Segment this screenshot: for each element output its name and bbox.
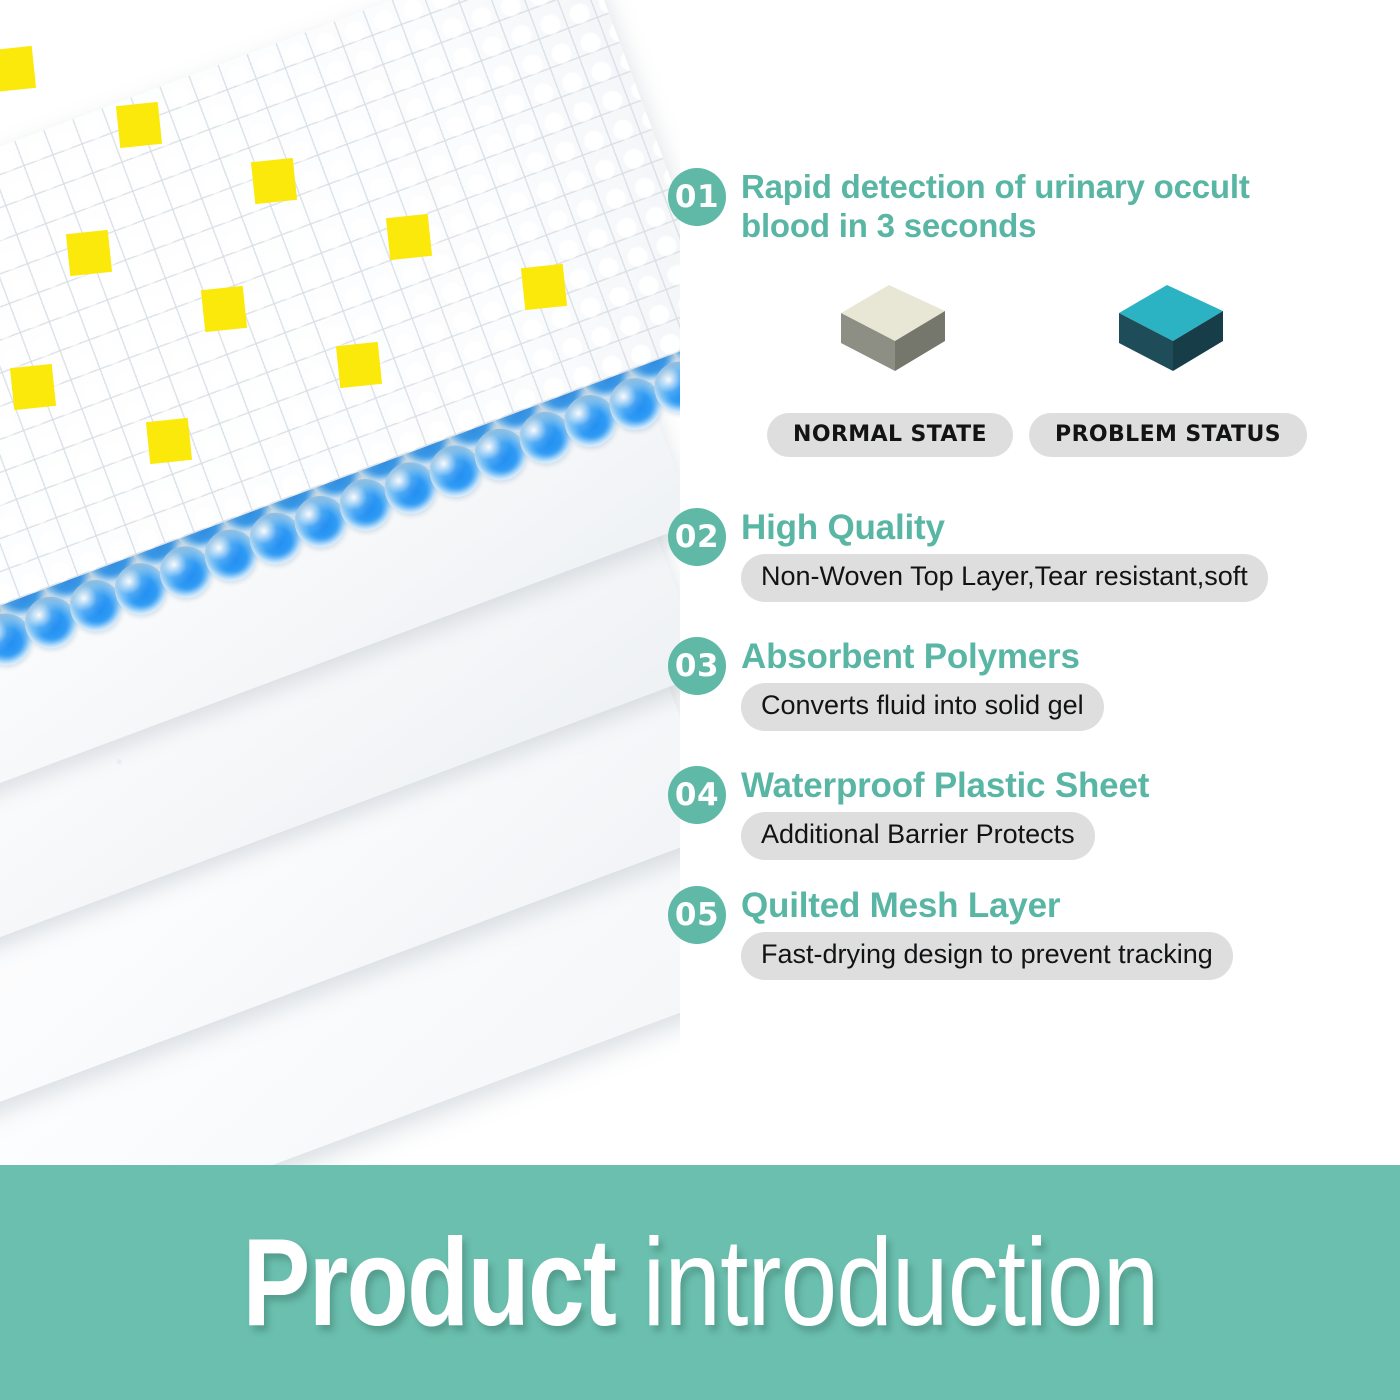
feature-list: 01 Rapid detection of urinary occult blo… <box>668 0 1400 1165</box>
feature-title: Absorbent Polymers <box>741 637 1104 676</box>
normal-state-chip: NORMAL STATE <box>767 413 1013 457</box>
feature-title: Quilted Mesh Layer <box>741 886 1233 925</box>
urine-indicator-square <box>10 364 56 410</box>
feature-description: Fast-drying design to prevent tracking <box>741 932 1233 980</box>
feature-item-05[interactable]: 05 Quilted Mesh Layer Fast-drying design… <box>668 886 1233 980</box>
bottom-banner: Product introduction <box>0 1165 1400 1400</box>
banner-word-bold: Product <box>242 1214 615 1352</box>
urine-indicator-square <box>521 264 567 310</box>
feature-description: Additional Barrier Protects <box>741 812 1095 860</box>
feature-item-03[interactable]: 03 Absorbent Polymers Converts fluid int… <box>668 637 1104 731</box>
feature-number-badge: 04 <box>668 766 726 824</box>
feature-text-block: High Quality Non-Woven Top Layer,Tear re… <box>741 508 1268 602</box>
problem-state-chip: PROBLEM STATUS <box>1029 413 1307 457</box>
urine-indicator-square <box>201 286 247 332</box>
feature-number-badge: 03 <box>668 637 726 695</box>
feature-title: High Quality <box>741 508 1268 547</box>
feature-description: Non-Woven Top Layer,Tear resistant,soft <box>741 554 1268 602</box>
feature-text-block: Absorbent Polymers Converts fluid into s… <box>741 637 1104 731</box>
feature-title: Waterproof Plastic Sheet <box>741 766 1149 805</box>
urine-indicator-square <box>66 230 112 276</box>
urine-indicator-square <box>251 158 297 204</box>
feature-number-badge: 02 <box>668 508 726 566</box>
feature-text-block: Rapid detection of urinary occult blood … <box>741 168 1271 245</box>
urine-indicator-square <box>336 342 382 388</box>
feature-number-badge: 01 <box>668 168 726 226</box>
feature-description: Converts fluid into solid gel <box>741 683 1104 731</box>
problem-state-cube-icon <box>1093 265 1243 385</box>
urine-indicator-square <box>0 46 36 92</box>
feature-title: Rapid detection of urinary occult blood … <box>741 168 1271 245</box>
normal-state-cube-icon <box>815 265 965 385</box>
feature-number-badge: 05 <box>668 886 726 944</box>
banner-word-light: introduction <box>615 1214 1158 1352</box>
product-layer-illustration <box>0 0 680 1165</box>
state-comparison: NORMAL STATE PROBLEM STATUS <box>760 265 1400 480</box>
feature-text-block: Quilted Mesh Layer Fast-drying design to… <box>741 886 1233 980</box>
banner-title: Product introduction <box>242 1221 1158 1345</box>
urine-indicator-square <box>116 102 162 148</box>
feature-item-01[interactable]: 01 Rapid detection of urinary occult blo… <box>668 168 1271 245</box>
problem-state-item: PROBLEM STATUS <box>1038 265 1298 385</box>
feature-item-04[interactable]: 04 Waterproof Plastic Sheet Additional B… <box>668 766 1149 860</box>
urine-indicator-square <box>146 418 192 464</box>
normal-state-item: NORMAL STATE <box>760 265 1020 385</box>
feature-item-02[interactable]: 02 High Quality Non-Woven Top Layer,Tear… <box>668 508 1268 602</box>
urine-indicator-square <box>386 214 432 260</box>
feature-text-block: Waterproof Plastic Sheet Additional Barr… <box>741 766 1149 860</box>
